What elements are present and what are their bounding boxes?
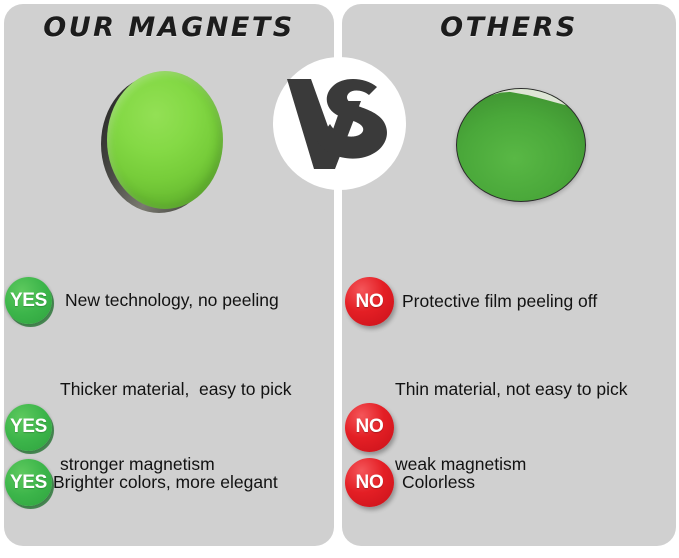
- vs-badge-icon: [273, 57, 406, 190]
- feature-text: Brighter colors, more elegant: [53, 420, 278, 545]
- status-badge-no: NO: [345, 277, 394, 326]
- peeling-film: [456, 88, 586, 154]
- film-texture: [456, 88, 586, 154]
- status-badge-yes: YES: [5, 277, 52, 324]
- comparison-infographic: OUR MAGNETS OTHERS YES New technology, n…: [0, 0, 679, 558]
- list-item: YES Brighter colors, more elegant: [5, 420, 331, 545]
- status-badge-no: NO: [345, 458, 394, 507]
- list-item: NO Colorless: [345, 420, 675, 545]
- page-title-our-magnets: OUR MAGNETS: [4, 12, 334, 43]
- feature-text: Colorless: [402, 420, 475, 545]
- page-title-others: OTHERS: [342, 12, 676, 43]
- other-magnet-image: [456, 88, 586, 202]
- status-badge-yes: YES: [5, 404, 52, 451]
- status-badge-no: NO: [345, 403, 394, 452]
- status-badge-yes: YES: [5, 459, 52, 506]
- magnet-face: [107, 71, 223, 209]
- our-magnet-image: [101, 71, 223, 214]
